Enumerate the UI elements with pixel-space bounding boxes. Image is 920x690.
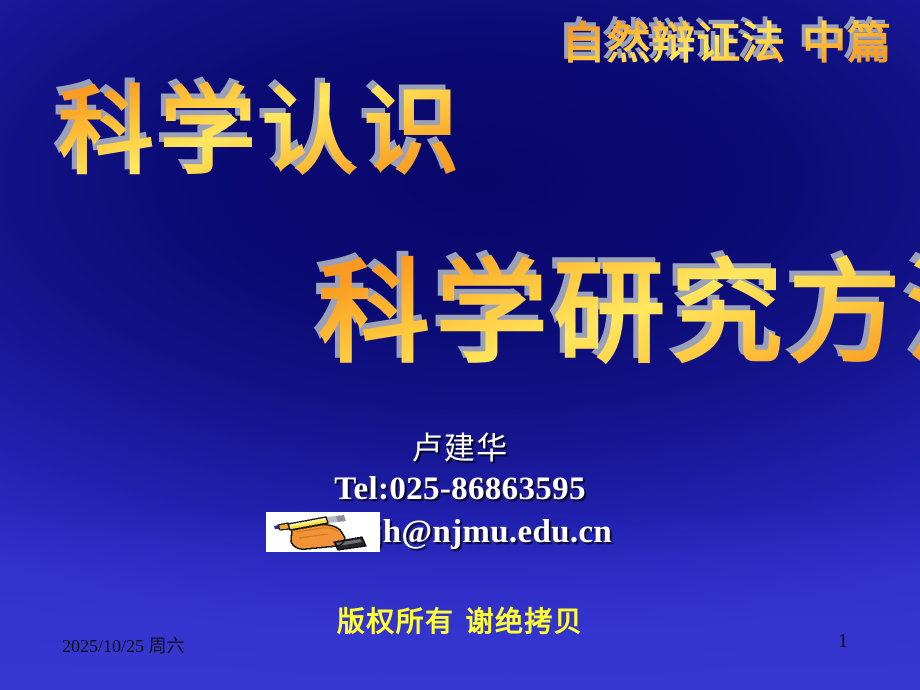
footer-date: 2025/10/25 周六 xyxy=(62,632,185,658)
slide-header-title: 自然辩证法 中篇 自然辩证法 中篇 xyxy=(562,22,892,66)
slide-title-line-2: 科学研究方法 科学研究方法 xyxy=(318,258,920,370)
hand-writing-pencil-icon xyxy=(266,512,380,552)
footer-page-number: 1 xyxy=(838,630,848,653)
author-name: 卢建华 xyxy=(0,432,920,467)
contact-block: 卢建华 Tel:025-86863595 ljh@njmu.edu.cn xyxy=(0,432,920,551)
presentation-slide: 自然辩证法 中篇 自然辩证法 中篇 科学认识 科学认识 科学研究方法 科学研究方… xyxy=(0,0,920,690)
slide-header-title-text: 自然辩证法 中篇 xyxy=(562,18,892,69)
author-telephone: Tel:025-86863595 xyxy=(0,471,920,508)
slide-title-line-2-text: 科学研究方法 xyxy=(318,249,920,379)
author-email: ljh@njmu.edu.cn xyxy=(0,514,920,551)
slide-title-line-1: 科学认识 科学认识 xyxy=(58,84,465,180)
slide-title-line-1-text: 科学认识 xyxy=(58,76,465,188)
